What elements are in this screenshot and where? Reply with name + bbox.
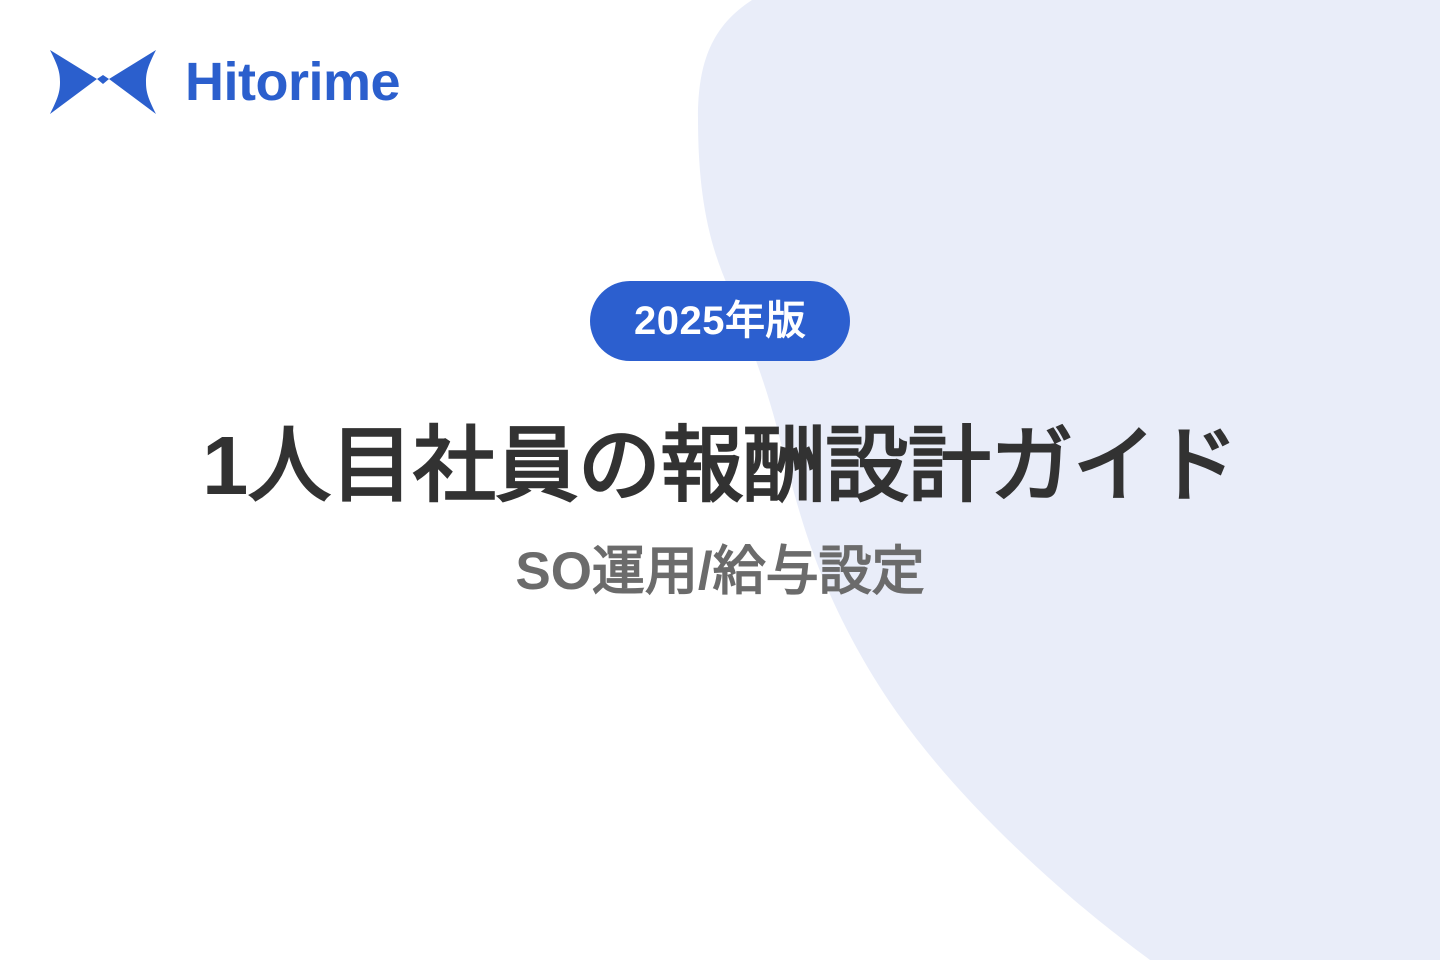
page-subtitle: SO運用/給与設定 — [515, 543, 924, 601]
cover-slide: Hitorime 2025年版 1人目社員の報酬設計ガイド SO運用/給与設定 — [0, 0, 1440, 960]
page-title: 1人目社員の報酬設計ガイド — [202, 422, 1238, 509]
year-edition-badge: 2025年版 — [590, 281, 850, 361]
brand-name-wordmark: Hitorime — [185, 55, 400, 109]
brand-logo[interactable]: Hitorime — [47, 48, 400, 116]
hero-content: 2025年版 1人目社員の報酬設計ガイド SO運用/給与設定 — [0, 281, 1440, 601]
bowtie-logo-icon — [47, 48, 159, 116]
